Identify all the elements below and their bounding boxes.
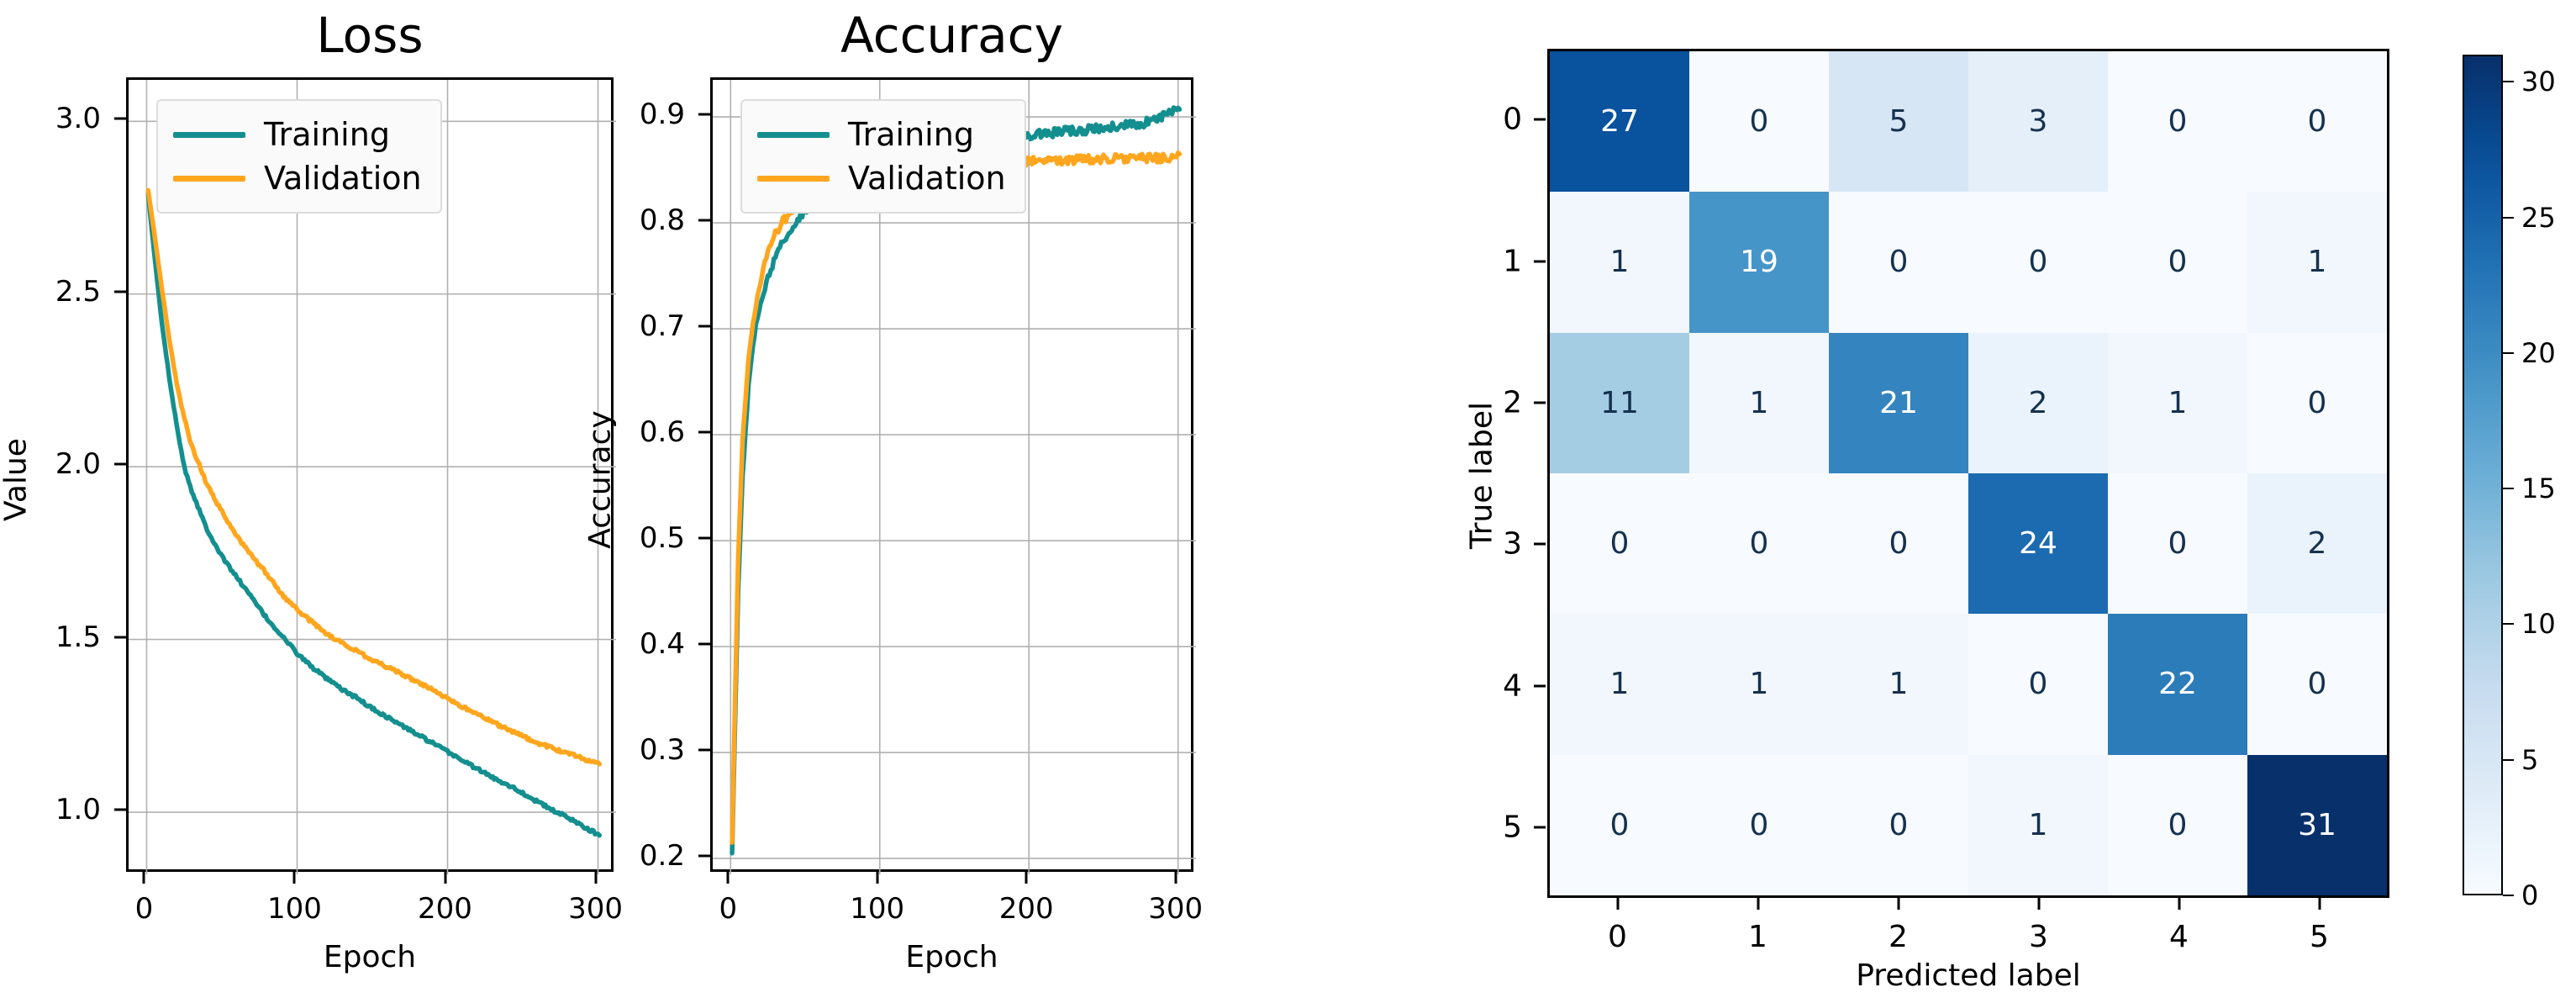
confusion-cell-5-3: 1 — [1968, 755, 2108, 895]
confusion-cell-1-0: 1 — [1550, 192, 1689, 332]
colorbar-tick-mark — [2503, 488, 2514, 489]
ytick-mark — [698, 855, 710, 858]
ytick-mark — [698, 113, 710, 116]
confusion-ytick-mark — [1534, 543, 1546, 546]
ytick-mark — [698, 643, 710, 646]
xtick-label: 300 — [1092, 892, 1260, 926]
confusion-ytick-mark — [1534, 260, 1546, 262]
ytick-mark — [698, 219, 710, 222]
ytick-label: 1.5 — [0, 620, 101, 654]
loss-chart-title: Loss — [126, 7, 614, 64]
ytick-label: 3.0 — [0, 102, 101, 135]
confusion-ytick-1: 1 — [1472, 244, 1522, 278]
confusion-cell-4-0: 1 — [1550, 614, 1689, 754]
colorbar-tick-label-1: 5 — [2521, 744, 2538, 776]
colorbar-tick-label-2: 10 — [2521, 608, 2556, 640]
ytick-label: 1.0 — [0, 793, 101, 826]
xtick-mark — [143, 872, 145, 884]
confusion-cell-0-3: 3 — [1968, 51, 2108, 192]
colorbar-tick-label-0: 0 — [2521, 879, 2538, 911]
confusion-xtick-mark — [2178, 898, 2180, 910]
xtick-label: 100 — [210, 892, 378, 926]
confusion-xaxis-label: Predicted label — [1547, 958, 2389, 993]
ytick-label: 0.8 — [534, 203, 685, 237]
ytick-mark — [698, 325, 710, 328]
accuracy-xaxis-label: Epoch — [710, 940, 1193, 974]
confusion-ytick-4: 4 — [1472, 668, 1522, 703]
confusion-cell-3-2: 0 — [1829, 473, 1968, 614]
ytick-label: 0.7 — [534, 309, 685, 343]
colorbar-tick-mark — [2503, 81, 2514, 82]
confusion-cell-0-0: 27 — [1550, 51, 1689, 192]
loss-yaxis-label: Value — [0, 354, 34, 606]
accuracy-yaxis-label: Accuracy — [583, 354, 618, 606]
loss-xaxis-label: Epoch — [126, 940, 614, 974]
confusion-cell-5-0: 0 — [1550, 755, 1689, 895]
legend-label-training: Training — [264, 119, 390, 150]
confusion-xtick-4: 4 — [2129, 920, 2230, 954]
confusion-cell-2-0: 11 — [1550, 333, 1689, 473]
ytick-mark — [114, 463, 126, 466]
confusion-matrix-grid: 2705300119000111121210000240211102200001… — [1547, 49, 2389, 898]
colorbar-tick-mark — [2503, 217, 2514, 219]
ytick-mark — [114, 809, 126, 811]
confusion-cell-2-2: 21 — [1829, 333, 1968, 473]
confusion-cell-0-2: 5 — [1829, 51, 1968, 192]
confusion-xtick-0: 0 — [1567, 920, 1668, 954]
loss-legend[interactable]: Training Validation — [156, 99, 442, 214]
confusion-xtick-2: 2 — [1848, 920, 1949, 954]
ytick-label: 0.4 — [534, 627, 685, 661]
confusion-cell-5-5: 31 — [2247, 755, 2387, 895]
confusion-cell-3-1: 0 — [1689, 473, 1829, 614]
xtick-mark — [444, 872, 446, 884]
series-line-validation — [732, 153, 1179, 842]
confusion-xtick-mark — [2318, 898, 2321, 910]
series-line-validation — [148, 190, 599, 764]
confusion-cell-0-1: 0 — [1689, 51, 1829, 192]
colorbar-tick-label-5: 25 — [2521, 202, 2556, 234]
confusion-ytick-mark — [1534, 826, 1546, 828]
colorbar-tick-mark — [2503, 352, 2514, 354]
confusion-xtick-mark — [1616, 898, 1619, 910]
ytick-mark — [698, 537, 710, 540]
confusion-ytick-mark — [1534, 119, 1546, 121]
xtick-label: 200 — [942, 892, 1110, 926]
confusion-cell-1-1: 19 — [1689, 192, 1829, 332]
confusion-cell-4-5: 0 — [2247, 614, 2387, 754]
legend-swatch-validation — [757, 176, 830, 182]
legend-label-validation: Validation — [264, 162, 422, 194]
confusion-ytick-5: 5 — [1472, 810, 1522, 844]
confusion-cell-2-5: 0 — [2247, 333, 2387, 473]
colorbar-tick-label-6: 30 — [2521, 66, 2556, 98]
ytick-label: 0.2 — [534, 839, 685, 873]
confusion-xtick-5: 5 — [2269, 920, 2370, 954]
xtick-label: 100 — [793, 892, 961, 926]
confusion-xtick-mark — [2037, 898, 2040, 910]
confusion-cell-4-3: 0 — [1968, 614, 2108, 754]
ytick-label: 0.9 — [534, 98, 685, 131]
confusion-cell-1-4: 0 — [2108, 192, 2247, 332]
confusion-cell-3-5: 2 — [2247, 473, 2387, 614]
xtick-mark — [594, 872, 597, 884]
legend-label-training: Training — [848, 119, 974, 150]
confusion-cell-5-2: 0 — [1829, 755, 1968, 895]
colorbar-tick-mark — [2503, 623, 2514, 625]
figure-canvas: Loss 1.01.52.02.53.00100200300 Epoch Val… — [0, 0, 2576, 1003]
confusion-cell-2-4: 1 — [2108, 333, 2247, 473]
xtick-mark — [1025, 872, 1028, 884]
confusion-cell-5-4: 0 — [2108, 755, 2247, 895]
ytick-mark — [114, 636, 126, 638]
confusion-cell-2-1: 1 — [1689, 333, 1829, 473]
confusion-cell-4-4: 22 — [2108, 614, 2247, 754]
legend-item-validation[interactable]: Validation — [757, 156, 1006, 200]
ytick-label: 2.5 — [0, 275, 101, 309]
xtick-label: 200 — [361, 892, 529, 926]
ytick-mark — [114, 118, 126, 120]
confusion-xtick-mark — [1897, 898, 1899, 910]
xtick-mark — [876, 872, 878, 884]
confusion-cell-3-0: 0 — [1550, 473, 1689, 614]
ytick-mark — [114, 290, 126, 293]
colorbar-tick-mark — [2503, 759, 2514, 761]
confusion-cell-4-2: 1 — [1829, 614, 1968, 754]
confusion-cell-3-3: 24 — [1968, 473, 2108, 614]
legend-item-validation[interactable]: Validation — [173, 156, 422, 200]
legend-swatch-training — [173, 132, 245, 138]
legend-label-validation: Validation — [848, 162, 1006, 194]
confusion-cell-4-1: 1 — [1689, 614, 1829, 754]
confusion-xtick-3: 3 — [1989, 920, 2089, 954]
confusion-ytick-mark — [1534, 401, 1546, 404]
ytick-label: 0.3 — [534, 733, 685, 767]
confusion-cell-2-3: 2 — [1968, 333, 2108, 473]
accuracy-chart-title: Accuracy — [710, 7, 1193, 64]
confusion-cell-1-5: 1 — [2247, 192, 2387, 332]
legend-swatch-validation — [173, 176, 245, 182]
ytick-mark — [698, 749, 710, 752]
colorbar-tick-label-4: 20 — [2521, 337, 2556, 369]
legend-item-training[interactable]: Training — [757, 113, 1006, 156]
accuracy-legend[interactable]: Training Validation — [740, 99, 1026, 214]
series-line-training — [732, 108, 1179, 853]
confusion-yaxis-label: True label — [1465, 350, 1499, 602]
xtick-mark — [727, 872, 730, 884]
confusion-ytick-0: 0 — [1472, 103, 1522, 137]
confusion-cell-1-3: 0 — [1968, 192, 2108, 332]
xtick-mark — [1174, 872, 1177, 884]
xtick-label: 0 — [60, 892, 228, 926]
confusion-ytick-mark — [1534, 684, 1546, 687]
legend-item-training[interactable]: Training — [173, 113, 422, 156]
confusion-cell-0-4: 0 — [2108, 51, 2247, 192]
xtick-label: 0 — [644, 892, 812, 926]
confusion-cell-3-4: 0 — [2108, 473, 2247, 614]
colorbar-tick-mark — [2503, 895, 2514, 896]
ytick-mark — [698, 431, 710, 434]
confusion-xtick-mark — [1757, 898, 1759, 910]
confusion-cell-1-2: 0 — [1829, 192, 1968, 332]
confusion-cell-5-1: 0 — [1689, 755, 1829, 895]
confusion-xtick-1: 1 — [1708, 920, 1809, 954]
confusion-matrix-colorbar — [2463, 55, 2503, 895]
legend-swatch-training — [757, 132, 830, 138]
xtick-mark — [293, 872, 296, 884]
colorbar-tick-label-3: 15 — [2521, 472, 2556, 504]
confusion-cell-0-5: 0 — [2247, 51, 2387, 192]
